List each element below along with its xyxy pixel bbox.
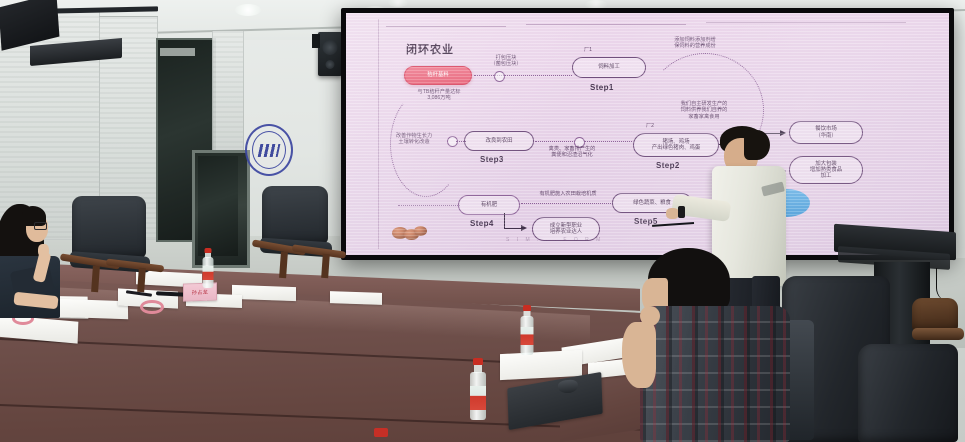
step2-label: Step2 (656, 161, 680, 170)
presenter-watch (678, 206, 685, 218)
name-placard-text: 孙占龙 (192, 288, 209, 296)
water-bottle[interactable] (519, 305, 535, 355)
bottle-label (203, 266, 214, 280)
person-seated-woman (0, 198, 106, 320)
node-step5-label: 绿色蔬菜、粮食 (633, 200, 671, 206)
red-marker[interactable] (374, 428, 388, 437)
edge-label-start-step1: 打包压块 （菌包压块） (474, 55, 538, 68)
chair-seat (912, 328, 964, 340)
edge-step4-step5 (521, 203, 613, 204)
bottle-cap (473, 358, 483, 365)
edge-label-step4-step5: 有机肥施入农田栽培机质 (522, 191, 614, 197)
ceiling-light (235, 4, 261, 16)
pink-ring-object[interactable] (140, 300, 164, 314)
speaker-cone-icon (323, 40, 338, 55)
node-start-label: 秸秆基料 (427, 72, 449, 78)
slide-header-rule (526, 24, 686, 25)
chair-post (321, 254, 330, 278)
slide-title: 闭环农业 (406, 41, 454, 57)
slide-left-rule (378, 19, 379, 249)
institution-emblem-icon (245, 124, 293, 176)
water-bottle[interactable] (201, 248, 215, 288)
woman-glasses-icon (34, 222, 47, 230)
edge-hub-step2 (584, 141, 632, 142)
door-glass (198, 156, 238, 256)
seated-man-hand (640, 306, 660, 326)
edge-label-step3-step2: 禽类、家畜排产生的 粪便和沼渣沼气化 (532, 146, 612, 159)
node-step3-label: 改良到农田 (486, 138, 513, 144)
step1-mark: 厂1 (578, 47, 598, 53)
office-chair[interactable] (254, 186, 344, 286)
chair-post (137, 268, 146, 292)
chair-post (279, 252, 288, 278)
water-bottle[interactable] (468, 358, 488, 420)
slide-header-rule (386, 26, 506, 27)
node-step4-label: 有机肥 (481, 202, 497, 208)
document-paper[interactable] (500, 350, 582, 380)
plaid-pattern (640, 306, 790, 442)
speaker-bracket-icon (312, 34, 320, 48)
window-blind (212, 30, 244, 162)
slide-footer-text: S I M . . . F O R M (506, 237, 603, 243)
node-step4[interactable]: 有机肥 (458, 195, 520, 215)
step2-mark: 厂2 (640, 123, 660, 129)
step3-label: Step3 (480, 155, 504, 164)
person-seated-man (600, 248, 820, 442)
step4-sub-line-v (504, 213, 505, 229)
step1-label: Step1 (590, 83, 614, 92)
edge-label-step1-step2: 添加饲料添加剂增 保饲料的营养成份 (651, 37, 739, 50)
seated-man-arm (622, 322, 656, 388)
emblem-mark-icon (258, 144, 281, 157)
leather-chair-right[interactable] (858, 344, 958, 442)
sweet-potato-image (414, 226, 427, 236)
node-market-catering-label: 餐饮市场 （华南） (815, 126, 837, 138)
wall-speaker (318, 32, 342, 76)
lectern-cable (936, 268, 955, 302)
edge-hub-step1 (504, 75, 572, 76)
blind-slats (213, 31, 243, 161)
bottle-label (470, 386, 486, 410)
chair-back (262, 186, 328, 244)
window-sill (160, 48, 195, 56)
presenter-hair-back (744, 130, 770, 160)
edge-to-step4 (398, 205, 460, 206)
node-step3[interactable]: 改良到农田 (464, 131, 534, 151)
speaker-tweeter-icon (326, 60, 335, 69)
node-start[interactable]: 秸秆基料 (404, 66, 472, 85)
seated-man-torso (640, 306, 790, 442)
edge-label-start-step3: 改善作物生长力 土壤转化改造 (384, 133, 444, 146)
document-paper[interactable] (330, 291, 382, 305)
step4-label: Step4 (470, 219, 494, 228)
step4-sub-line-h (504, 228, 522, 229)
chair-back (912, 298, 958, 332)
bottle-label (521, 327, 534, 345)
slide-header-rule (706, 22, 906, 23)
meeting-room-photo: 闭环农业 秸秆基料 与TB秸秆产量达标 3,086万吨 打包压块 （菌包压块） … (0, 0, 965, 442)
step4-sub-arrow-icon (521, 225, 527, 231)
edge-step3-step2 (535, 141, 575, 142)
node-step1[interactable]: 饲料加工 (572, 57, 646, 78)
node-step4-sub-label: 成立新型职业 培养农业达人 (550, 223, 582, 235)
woman-hand (38, 244, 49, 257)
edge-hub (494, 71, 505, 82)
edge-label-step2-loop: 我们自主研发生产的 饲料供养我们自养的 家畜家禽食用 (656, 101, 752, 120)
node-step1-label: 饲料加工 (598, 64, 620, 70)
